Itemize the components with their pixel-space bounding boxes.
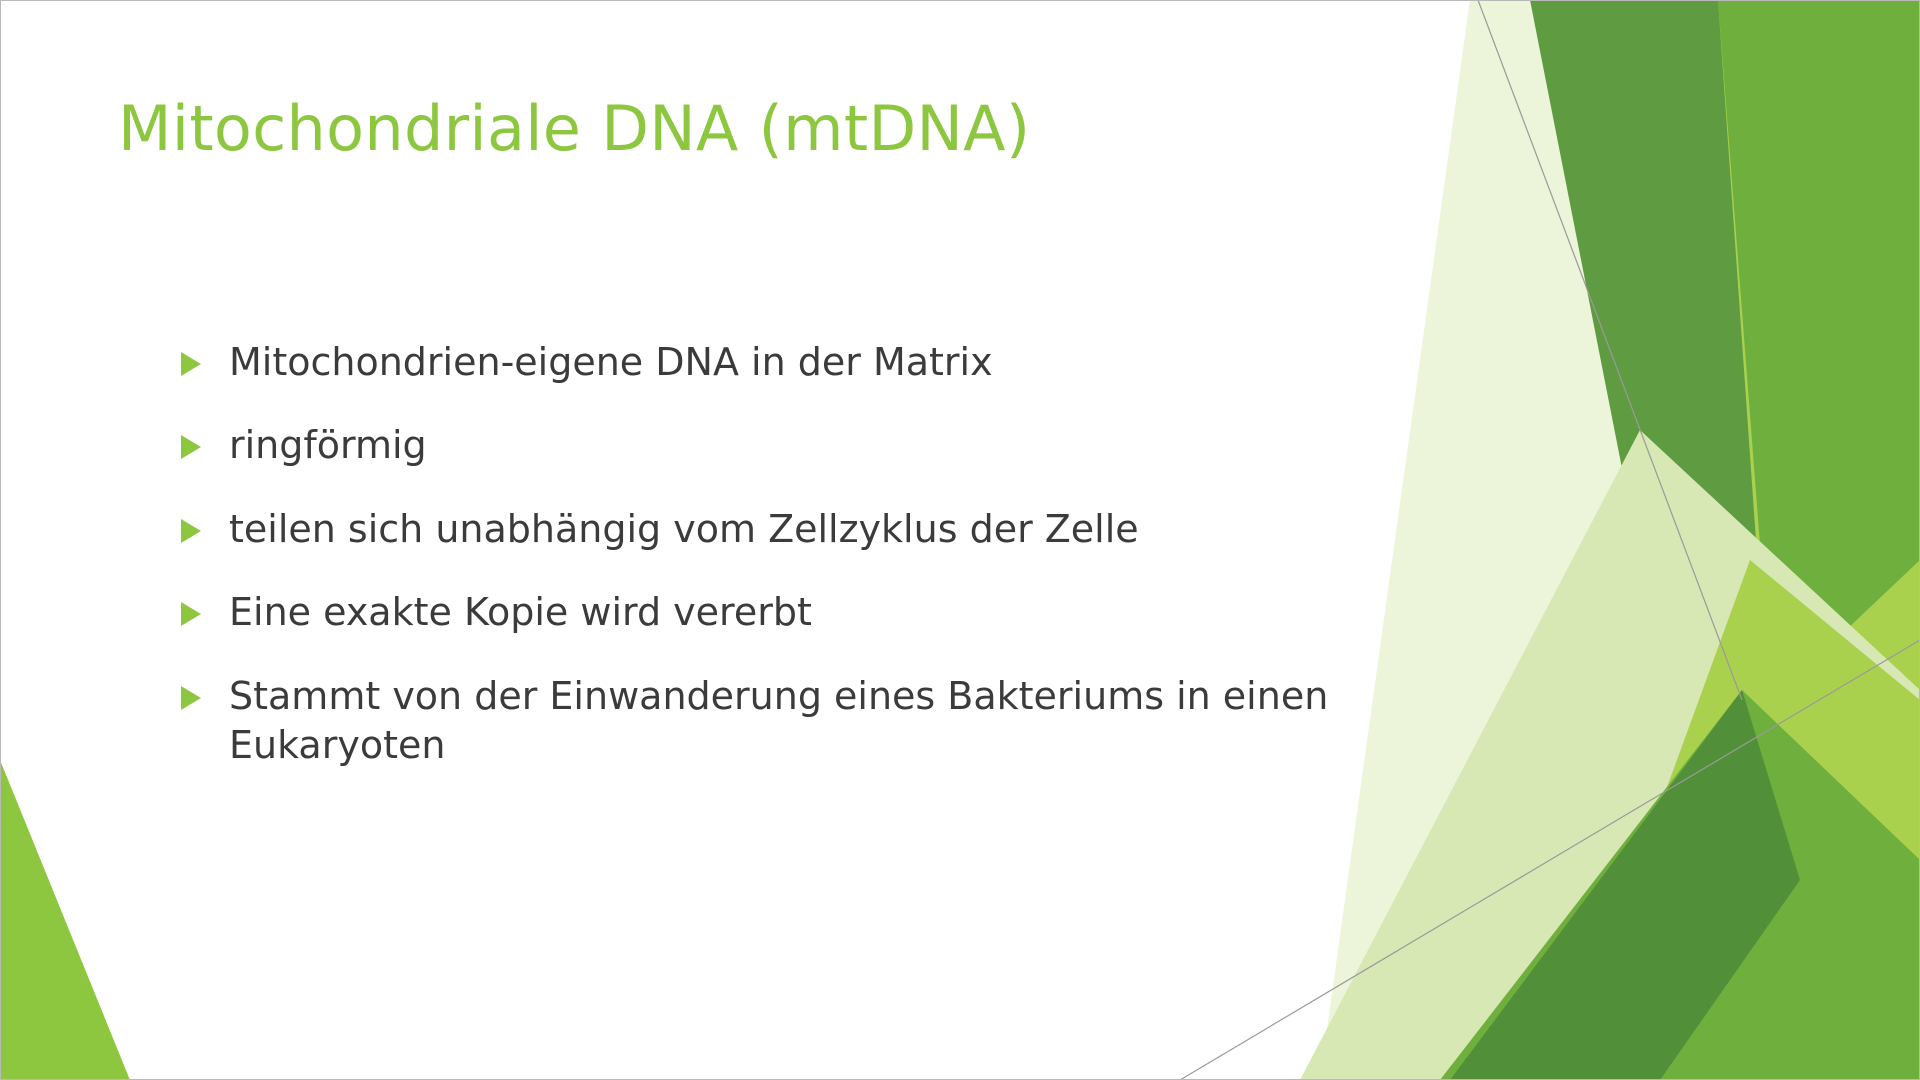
bottom-right-dark-wedge — [1440, 690, 1920, 1080]
slide-title: Mitochondriale DNA (mtDNA) — [118, 96, 1278, 162]
bottom-right-deep-overlap — [1450, 690, 1800, 1080]
triangle-right-icon — [178, 434, 204, 460]
list-item-label: Stammt von der Einwanderung eines Bakter… — [229, 672, 1379, 771]
list-item-label: ringförmig — [229, 421, 1379, 470]
right-pale-green-field — [1395, 0, 1920, 1080]
top-dark-green-band — [1395, 0, 1770, 1080]
list-item-label: Eine exakte Kopie wird vererbt — [229, 588, 1379, 637]
lower-right-bright-facet — [1560, 560, 1920, 1080]
triangle-right-icon — [178, 518, 204, 544]
list-item[interactable]: ringförmig — [178, 421, 1408, 470]
list-item[interactable]: teilen sich unabhängig vom Zellzyklus de… — [178, 505, 1408, 554]
list-item[interactable]: Mitochondrien-eigene DNA in der Matrix — [178, 338, 1408, 387]
mid-green-facet — [1718, 0, 1920, 700]
triangle-right-icon — [178, 601, 204, 627]
list-item[interactable]: Eine exakte Kopie wird vererbt — [178, 588, 1408, 637]
presentation-slide: Mitochondriale DNA (mtDNA) Mitochondrien… — [0, 0, 1920, 1080]
content-placeholder[interactable]: Mitochondrien-eigene DNA in der Matrix r… — [178, 338, 1408, 770]
list-item-label: teilen sich unabhängig vom Zellzyklus de… — [229, 505, 1379, 554]
list-item[interactable]: Stammt von der Einwanderung eines Bakter… — [178, 672, 1408, 771]
triangle-right-icon — [178, 685, 204, 711]
bullet-list: Mitochondrien-eigene DNA in der Matrix r… — [178, 338, 1408, 770]
title-placeholder[interactable]: Mitochondriale DNA (mtDNA) — [118, 96, 1278, 162]
list-item-label: Mitochondrien-eigene DNA in der Matrix — [229, 338, 1379, 387]
bottom-left-green-wedge — [0, 760, 130, 1080]
hairline-diagonal-upper — [1478, 0, 1742, 700]
triangle-right-icon — [178, 351, 204, 377]
